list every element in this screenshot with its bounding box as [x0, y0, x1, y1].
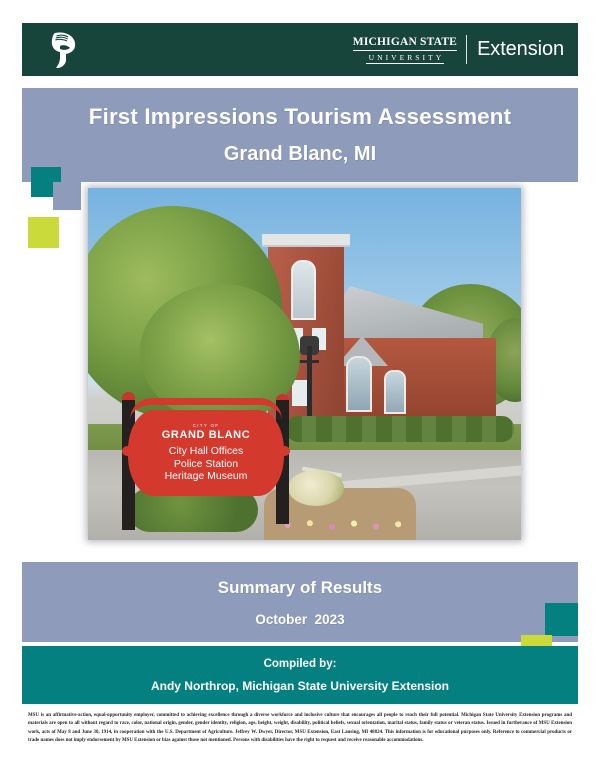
- decor-square-teal-bottom: [545, 603, 578, 636]
- sign-line-2: Police Station: [174, 458, 238, 471]
- shrub-row: [286, 416, 514, 442]
- compiled-by-author: Andy Northrop, Michigan State University…: [151, 679, 449, 693]
- decor-square-bluegray-top: [53, 182, 81, 210]
- photo-scene-grand-blanc-city-hall: CITY OF GRAND BLANC City Hall Offices Po…: [88, 188, 521, 540]
- compiled-by-block: Compiled by: Andy Northrop, Michigan Sta…: [22, 646, 578, 704]
- flowers: [274, 516, 412, 534]
- hydrangea-bush: [288, 470, 344, 506]
- summary-date: October 2023: [255, 612, 344, 627]
- lamp-post-bracket: [299, 360, 319, 363]
- cover-photo: CITY OF GRAND BLANC City Hall Offices Po…: [88, 188, 521, 540]
- lockup-divider: [466, 35, 467, 64]
- summary-title: Summary of Results: [218, 578, 382, 598]
- tower-window: [291, 260, 316, 320]
- spartan-helmet-icon: [44, 30, 82, 70]
- sign-city-name: GRAND BLANC: [162, 429, 250, 441]
- sign-line-3: Heritage Museum: [165, 470, 248, 483]
- page-subtitle: Grand Blanc, MI: [224, 143, 376, 166]
- msu-wordmark: MICHIGAN STATE UNIVERSITY: [353, 36, 466, 64]
- church-arched-window: [346, 356, 372, 412]
- tower-cornice: [262, 234, 350, 247]
- legal-disclaimer: MSU is an affirmative-action, equal-oppo…: [28, 712, 572, 746]
- msu-extension-lockup: MICHIGAN STATE UNIVERSITY Extension: [353, 34, 564, 65]
- page-title: First Impressions Tourism Assessment: [89, 104, 512, 130]
- decor-square-lime-top: [28, 217, 59, 248]
- title-block: First Impressions Tourism Assessment Gra…: [22, 88, 578, 182]
- sign-line-1: City Hall Offices: [169, 445, 244, 458]
- tower-small-window: [292, 380, 308, 406]
- compiled-by-label: Compiled by:: [264, 658, 337, 670]
- church-arched-window: [384, 370, 406, 414]
- msu-header-band: MICHIGAN STATE UNIVERSITY Extension: [22, 23, 578, 76]
- msu-wordmark-line1: MICHIGAN STATE: [353, 36, 457, 51]
- summary-block: Summary of Results October 2023: [22, 562, 578, 642]
- extension-label: Extension: [467, 38, 564, 61]
- grand-blanc-city-sign: CITY OF GRAND BLANC City Hall Offices Po…: [128, 410, 284, 496]
- msu-wordmark-line2: UNIVERSITY: [366, 51, 445, 64]
- sign-city-of-label: CITY OF: [193, 423, 219, 428]
